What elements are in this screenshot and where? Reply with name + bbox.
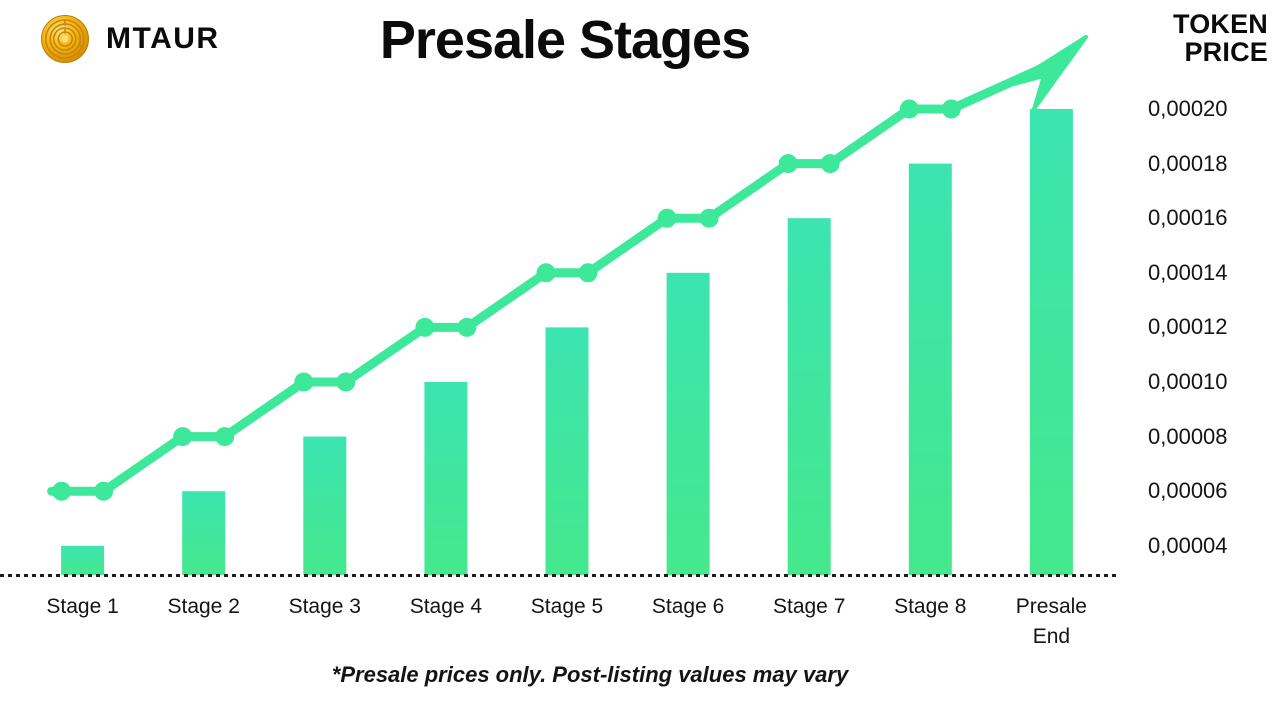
x-axis-tick-label: Stage 1 bbox=[18, 592, 148, 622]
x-axis-tick-label: Stage 2 bbox=[139, 592, 269, 622]
trend-marker bbox=[457, 318, 476, 337]
trend-marker bbox=[700, 209, 719, 228]
trend-marker bbox=[658, 209, 677, 228]
y-axis-tick-label: 0,00004 bbox=[1148, 533, 1260, 559]
y-axis-tick-label: 0,00018 bbox=[1148, 151, 1260, 177]
chart-canvas: MTAUR Presale Stages TOKEN PRICE 0,00020… bbox=[0, 0, 1280, 720]
chart-svg bbox=[0, 0, 1130, 600]
x-axis-tick-label: Stage 8 bbox=[865, 592, 995, 622]
trend-marker bbox=[900, 100, 919, 119]
bar bbox=[61, 546, 104, 575]
x-axis-tick-label: Stage 7 bbox=[744, 592, 874, 622]
trend-marker bbox=[294, 373, 313, 392]
trend-marker bbox=[415, 318, 434, 337]
footnote: *Presale prices only. Post-listing value… bbox=[0, 662, 1180, 688]
y-axis-tick-label: 0,00012 bbox=[1148, 314, 1260, 340]
x-axis-tick-label: Stage 6 bbox=[623, 592, 753, 622]
y-axis-tick-label: 0,00020 bbox=[1148, 96, 1260, 122]
trend-marker bbox=[779, 154, 798, 173]
y-axis-tick-label: 0,00008 bbox=[1148, 424, 1260, 450]
trend-marker bbox=[173, 427, 192, 446]
plot-area bbox=[0, 0, 1130, 600]
bar bbox=[1030, 109, 1073, 575]
bar bbox=[424, 382, 467, 575]
bar bbox=[546, 327, 589, 575]
trend-marker bbox=[52, 482, 71, 501]
y-axis-tick-label: 0,00014 bbox=[1148, 260, 1260, 286]
bar bbox=[667, 273, 710, 575]
bar bbox=[303, 437, 346, 575]
trend-marker bbox=[579, 263, 598, 282]
trend-marker bbox=[336, 373, 355, 392]
x-axis-tick-label: Stage 5 bbox=[502, 592, 632, 622]
x-axis-tick-label: Presale End bbox=[1006, 592, 1096, 653]
bar bbox=[788, 218, 831, 575]
x-axis-tick-label: Stage 4 bbox=[381, 592, 511, 622]
x-axis-ticks: Stage 1Stage 2Stage 3Stage 4Stage 5Stage… bbox=[0, 592, 1130, 662]
trend-marker bbox=[215, 427, 234, 446]
y-axis-tick-label: 0,00016 bbox=[1148, 205, 1260, 231]
bar bbox=[909, 164, 952, 575]
trend-marker bbox=[537, 263, 556, 282]
bar-series bbox=[61, 109, 1073, 575]
bar bbox=[182, 491, 225, 575]
trend-marker bbox=[821, 154, 840, 173]
y-axis-ticks: 0,000200,000180,000160,000140,000120,000… bbox=[1148, 0, 1268, 600]
y-axis-tick-label: 0,00006 bbox=[1148, 478, 1260, 504]
x-axis-tick-label: Stage 3 bbox=[260, 592, 390, 622]
y-axis-tick-label: 0,00010 bbox=[1148, 369, 1260, 395]
trend-marker bbox=[942, 100, 961, 119]
trend-marker bbox=[94, 482, 113, 501]
